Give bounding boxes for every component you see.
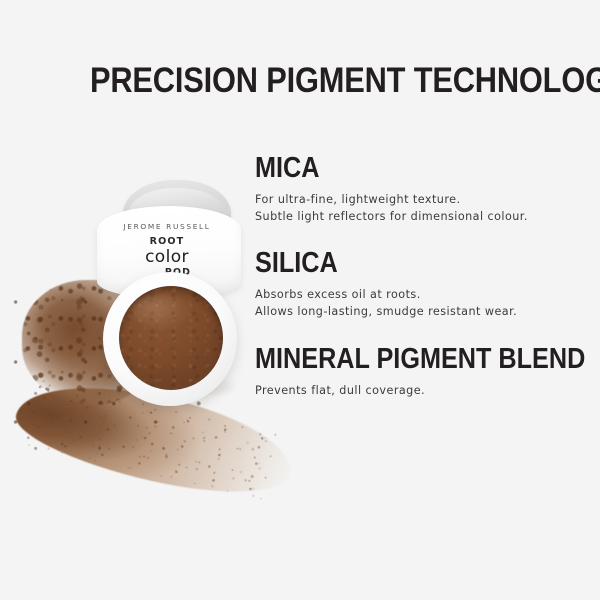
product-name-root: ROOT: [95, 236, 239, 247]
ingredient-section-mineral-pigment-blend: MINERAL PIGMENT BLEND Prevents flat, dul…: [255, 343, 590, 400]
ingredient-body-line: Allows long-lasting, smudge resistant we…: [255, 304, 590, 321]
ingredient-body-silica: Absorbs excess oil at roots. Allows long…: [255, 287, 590, 320]
ingredient-section-mica: MICA For ultra-fine, lightweight texture…: [255, 152, 590, 225]
page-title: PRECISION PIGMENT TECHNOLOGY: [90, 62, 477, 100]
ingredient-sections: MICA For ultra-fine, lightweight texture…: [255, 152, 590, 400]
ingredient-body-mineral-pigment-blend: Prevents flat, dull coverage.: [255, 383, 590, 400]
infographic-page: PRECISION PIGMENT TECHNOLOGY JEROME RUSS…: [0, 0, 600, 600]
ingredient-heading-mica: MICA: [255, 152, 546, 184]
ingredient-body-line: Absorbs excess oil at roots.: [255, 287, 590, 304]
ingredient-section-silica: SILICA Absorbs excess oil at roots. Allo…: [255, 247, 590, 320]
compact-case: JEROME RUSSELL ROOT color POD: [95, 180, 245, 420]
powder-pan-sheen: [131, 294, 191, 328]
ingredient-body-line: Prevents flat, dull coverage.: [255, 383, 590, 400]
ingredient-body-line: For ultra-fine, lightweight texture.: [255, 192, 590, 209]
powder-pan: [119, 286, 223, 390]
ingredient-body-line: Subtle light reflectors for dimensional …: [255, 209, 590, 226]
product-name-color: color: [95, 247, 239, 267]
ingredient-body-mica: For ultra-fine, lightweight texture. Sub…: [255, 192, 590, 225]
compact-base: [103, 272, 237, 406]
ingredient-heading-silica: SILICA: [255, 247, 546, 279]
ingredient-heading-mineral-pigment-blend: MINERAL PIGMENT BLEND: [255, 343, 546, 375]
product-brand-text: JEROME RUSSELL: [95, 222, 239, 231]
